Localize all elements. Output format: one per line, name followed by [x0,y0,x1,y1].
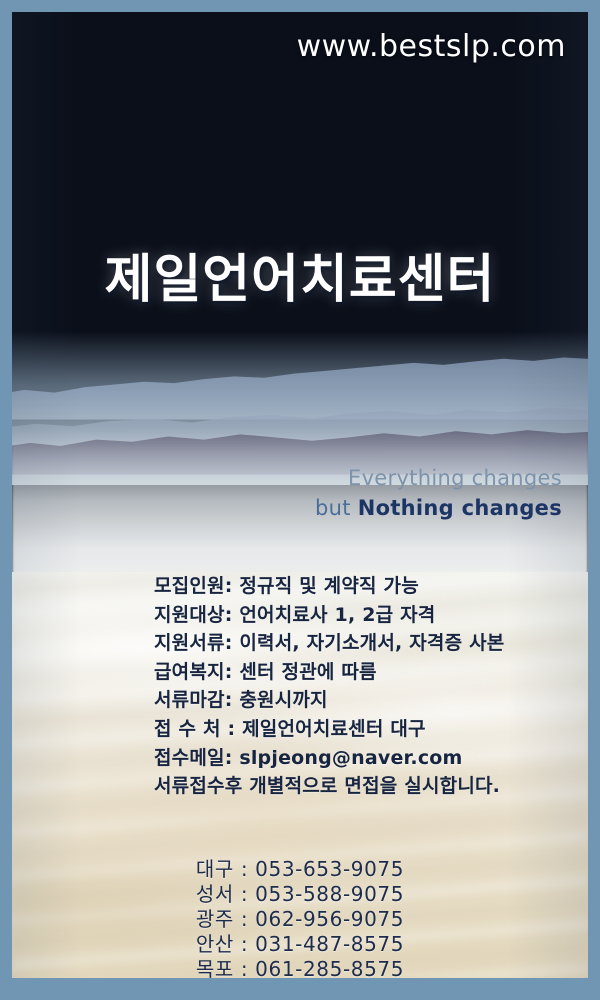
detail-row: 지원대상: 언어치료사 1, 2급 자격 [154,601,504,630]
phone-row[interactable]: 성서 : 053-588-9075 [12,882,588,907]
website-url[interactable]: www.bestslp.com [297,29,566,64]
detail-row-email[interactable]: 접수메일: slpjeong@naver.com [154,744,504,773]
detail-row: 지원서류: 이력서, 자기소개서, 자격증 사본 [154,629,504,658]
poster-frame: www.bestslp.com 제일언어치료센터 Everything chan… [0,0,600,1000]
phone-row[interactable]: 목포 : 061-285-8575 [12,957,588,978]
detail-row: 접 수 처 : 제일언어치료센터 대구 [154,715,504,744]
detail-row: 서류마감: 충원시까지 [154,686,504,715]
detail-row: 서류접수후 개별적으로 면접을 실시합니다. [154,772,504,801]
tagline-line-2-prefix: but [315,496,358,520]
center-name-title: 제일언어치료센터 [12,237,588,312]
detail-row: 모집인원: 정규직 및 계약직 가능 [154,572,504,601]
phone-row[interactable]: 광주 : 062-956-9075 [12,907,588,932]
tagline-line-1: Everything changes [315,464,562,494]
phone-row[interactable]: 안산 : 031-487-8575 [12,932,588,957]
phone-row[interactable]: 대구 : 053-653-9075 [12,857,588,882]
tagline-line-2: but Nothing changes [315,494,562,524]
poster-content: www.bestslp.com 제일언어치료센터 Everything chan… [12,12,588,978]
detail-row: 급여복지: 센터 정관에 따름 [154,658,504,687]
phone-list: 대구 : 053-653-9075 성서 : 053-588-9075 광주 :… [12,857,588,978]
tagline-line-2-emphasis: Nothing changes [358,496,562,520]
tagline-block: Everything changes but Nothing changes [315,464,562,524]
poster-photo: www.bestslp.com 제일언어치료센터 Everything chan… [12,12,588,978]
job-details-list: 모집인원: 정규직 및 계약직 가능 지원대상: 언어치료사 1, 2급 자격 … [154,572,504,801]
